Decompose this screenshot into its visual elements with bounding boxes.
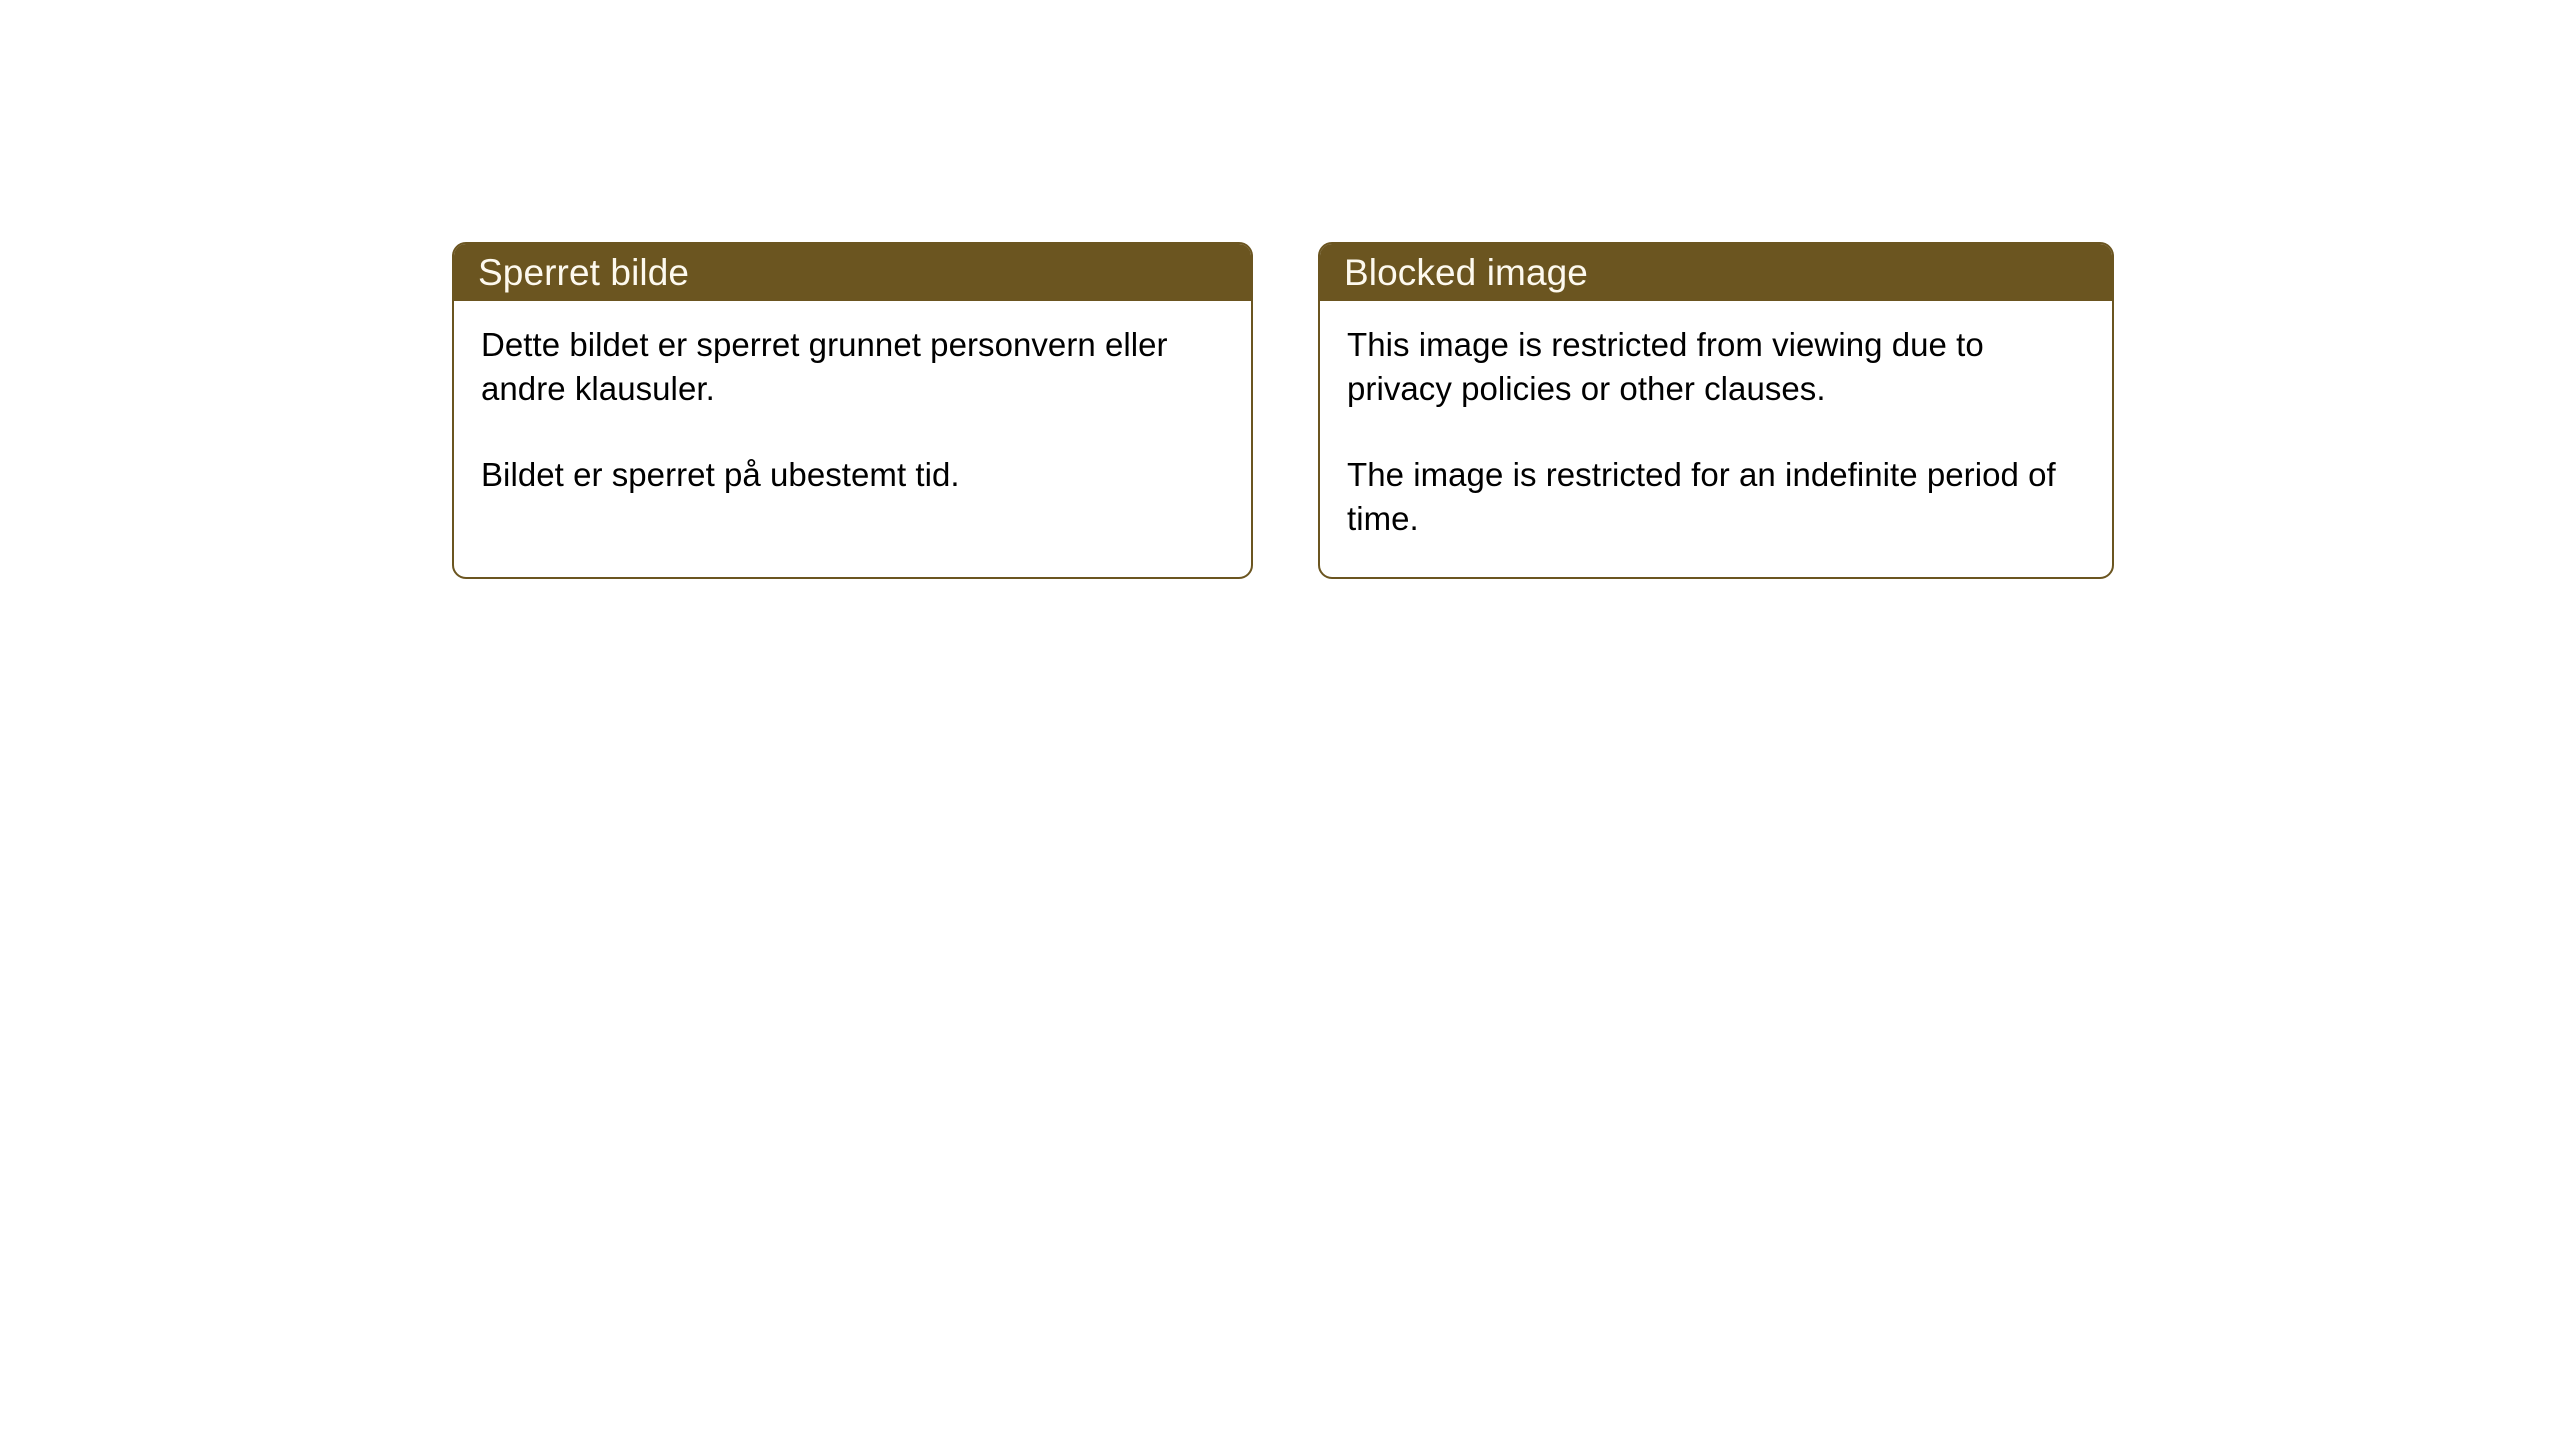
blocked-image-card-english: Blocked image This image is restricted f… xyxy=(1318,242,2114,579)
card-header-english: Blocked image xyxy=(1320,244,2112,301)
card-title-english: Blocked image xyxy=(1344,251,1588,295)
card-header-norwegian: Sperret bilde xyxy=(454,244,1251,301)
blocked-image-notice-group: Sperret bilde Dette bildet er sperret gr… xyxy=(452,242,2114,579)
card-body-english: This image is restricted from viewing du… xyxy=(1320,301,2112,577)
card-paragraph-reason-norwegian: Dette bildet er sperret grunnet personve… xyxy=(481,323,1225,411)
page-canvas: Sperret bilde Dette bildet er sperret gr… xyxy=(0,0,2560,1440)
blocked-image-card-norwegian: Sperret bilde Dette bildet er sperret gr… xyxy=(452,242,1253,579)
card-paragraph-reason-english: This image is restricted from viewing du… xyxy=(1347,323,2086,411)
card-title-norwegian: Sperret bilde xyxy=(478,251,689,295)
card-body-norwegian: Dette bildet er sperret grunnet personve… xyxy=(454,301,1251,577)
card-paragraph-duration-english: The image is restricted for an indefinit… xyxy=(1347,453,2086,541)
card-paragraph-duration-norwegian: Bildet er sperret på ubestemt tid. xyxy=(481,453,1225,497)
